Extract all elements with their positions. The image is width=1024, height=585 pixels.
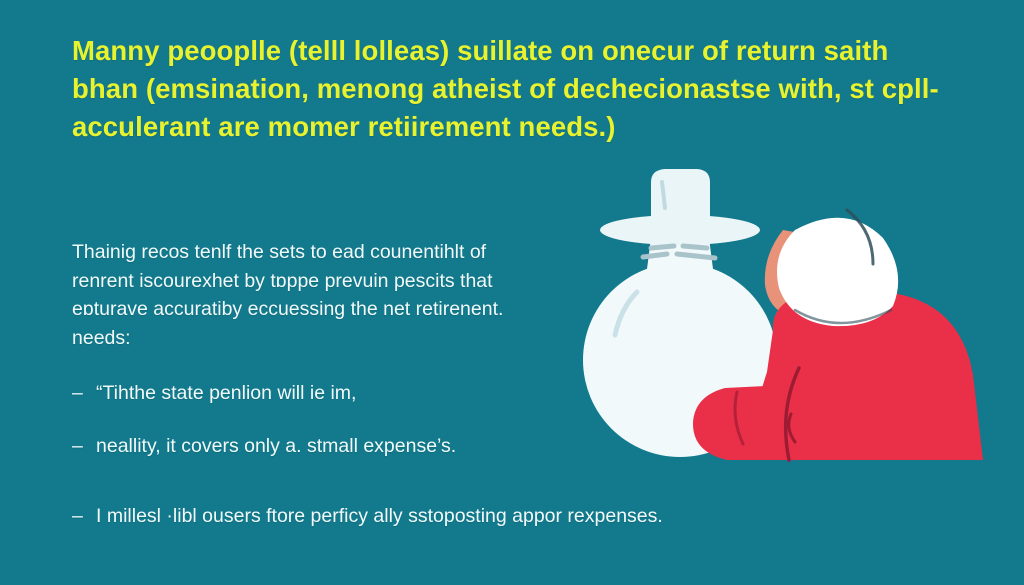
bullet-dash-icon: –	[72, 505, 96, 528]
bullet-dash-icon: –	[72, 435, 96, 458]
slide-canvas: Manny peooplle (telll lolleas) suillate …	[0, 0, 1024, 585]
list-item: – I millesl ·libl ousers ftore perficy a…	[72, 505, 872, 528]
list-item-label: I millesl ·libl ousers ftore perficy all…	[96, 505, 872, 528]
body-paragraph: Thainig recos tenlf the sets to ead coun…	[72, 238, 552, 352]
elderly-person-with-balloon-illustration	[555, 160, 995, 500]
page-title: Manny peooplle (telll lolleas) suillate …	[72, 32, 952, 146]
top-hat-icon	[600, 169, 760, 258]
bullet-dash-icon: –	[72, 382, 96, 405]
